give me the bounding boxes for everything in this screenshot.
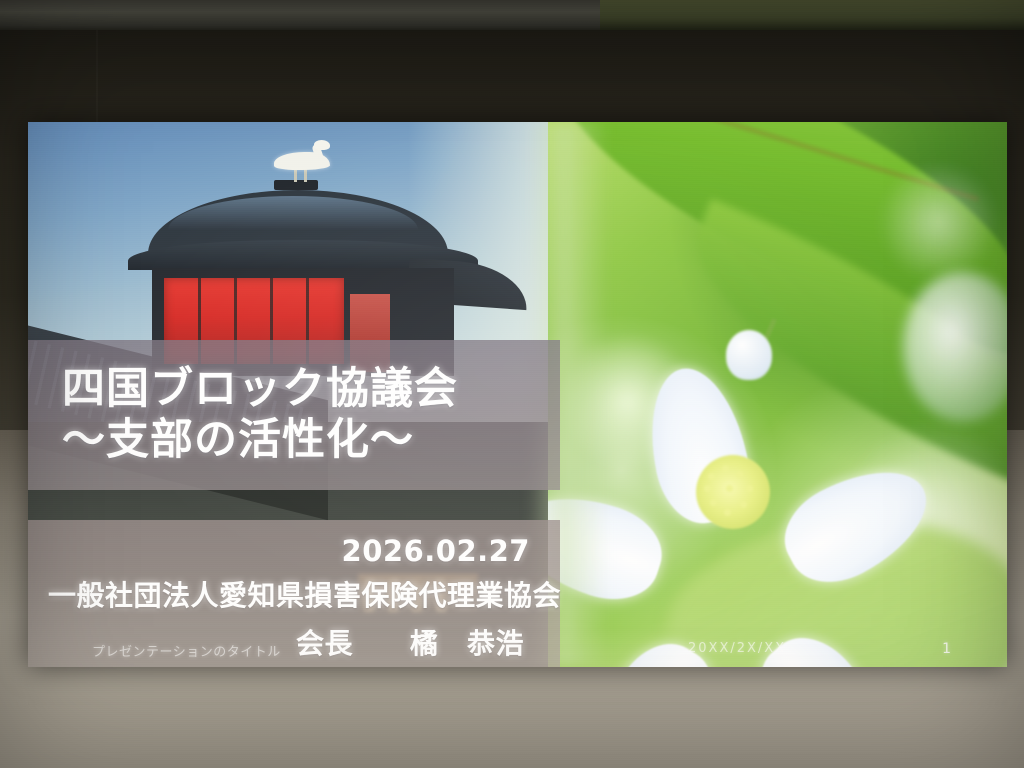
slide-presenter-name: 会長 橘 恭浩 — [48, 622, 530, 662]
flower-photo — [548, 122, 1007, 667]
slide-title-line-1: 四国ブロック協議会 — [62, 364, 560, 415]
phoenix-leg-right — [304, 168, 307, 182]
projected-slide-photo: 四国ブロック協議会 ～支部の活性化～ 2026.02.27 一般社団法人愛知県損… — [0, 0, 1024, 768]
phoenix-head — [314, 140, 330, 150]
white-blossom — [578, 337, 878, 637]
slide-subtitle-box: 2026.02.27 一般社団法人愛知県損害保険代理業協会 会長 橘 恭浩 — [28, 520, 560, 667]
projection-screen: 四国ブロック協議会 ～支部の活性化～ 2026.02.27 一般社団法人愛知県損… — [28, 122, 1007, 667]
slide-title-line-2: ～支部の活性化～ — [62, 415, 560, 466]
slide-date: 2026.02.27 — [48, 534, 530, 568]
flower-stamen-cluster — [696, 455, 770, 529]
bokeh-highlight-b — [878, 162, 998, 282]
slide-title-box: 四国ブロック協議会 ～支部の活性化～ — [28, 340, 560, 490]
slide-organization: 一般社団法人愛知県損害保険代理業協会 — [48, 574, 530, 614]
ceiling-green-reflection — [600, 0, 1024, 30]
phoenix-leg-left — [294, 168, 297, 182]
